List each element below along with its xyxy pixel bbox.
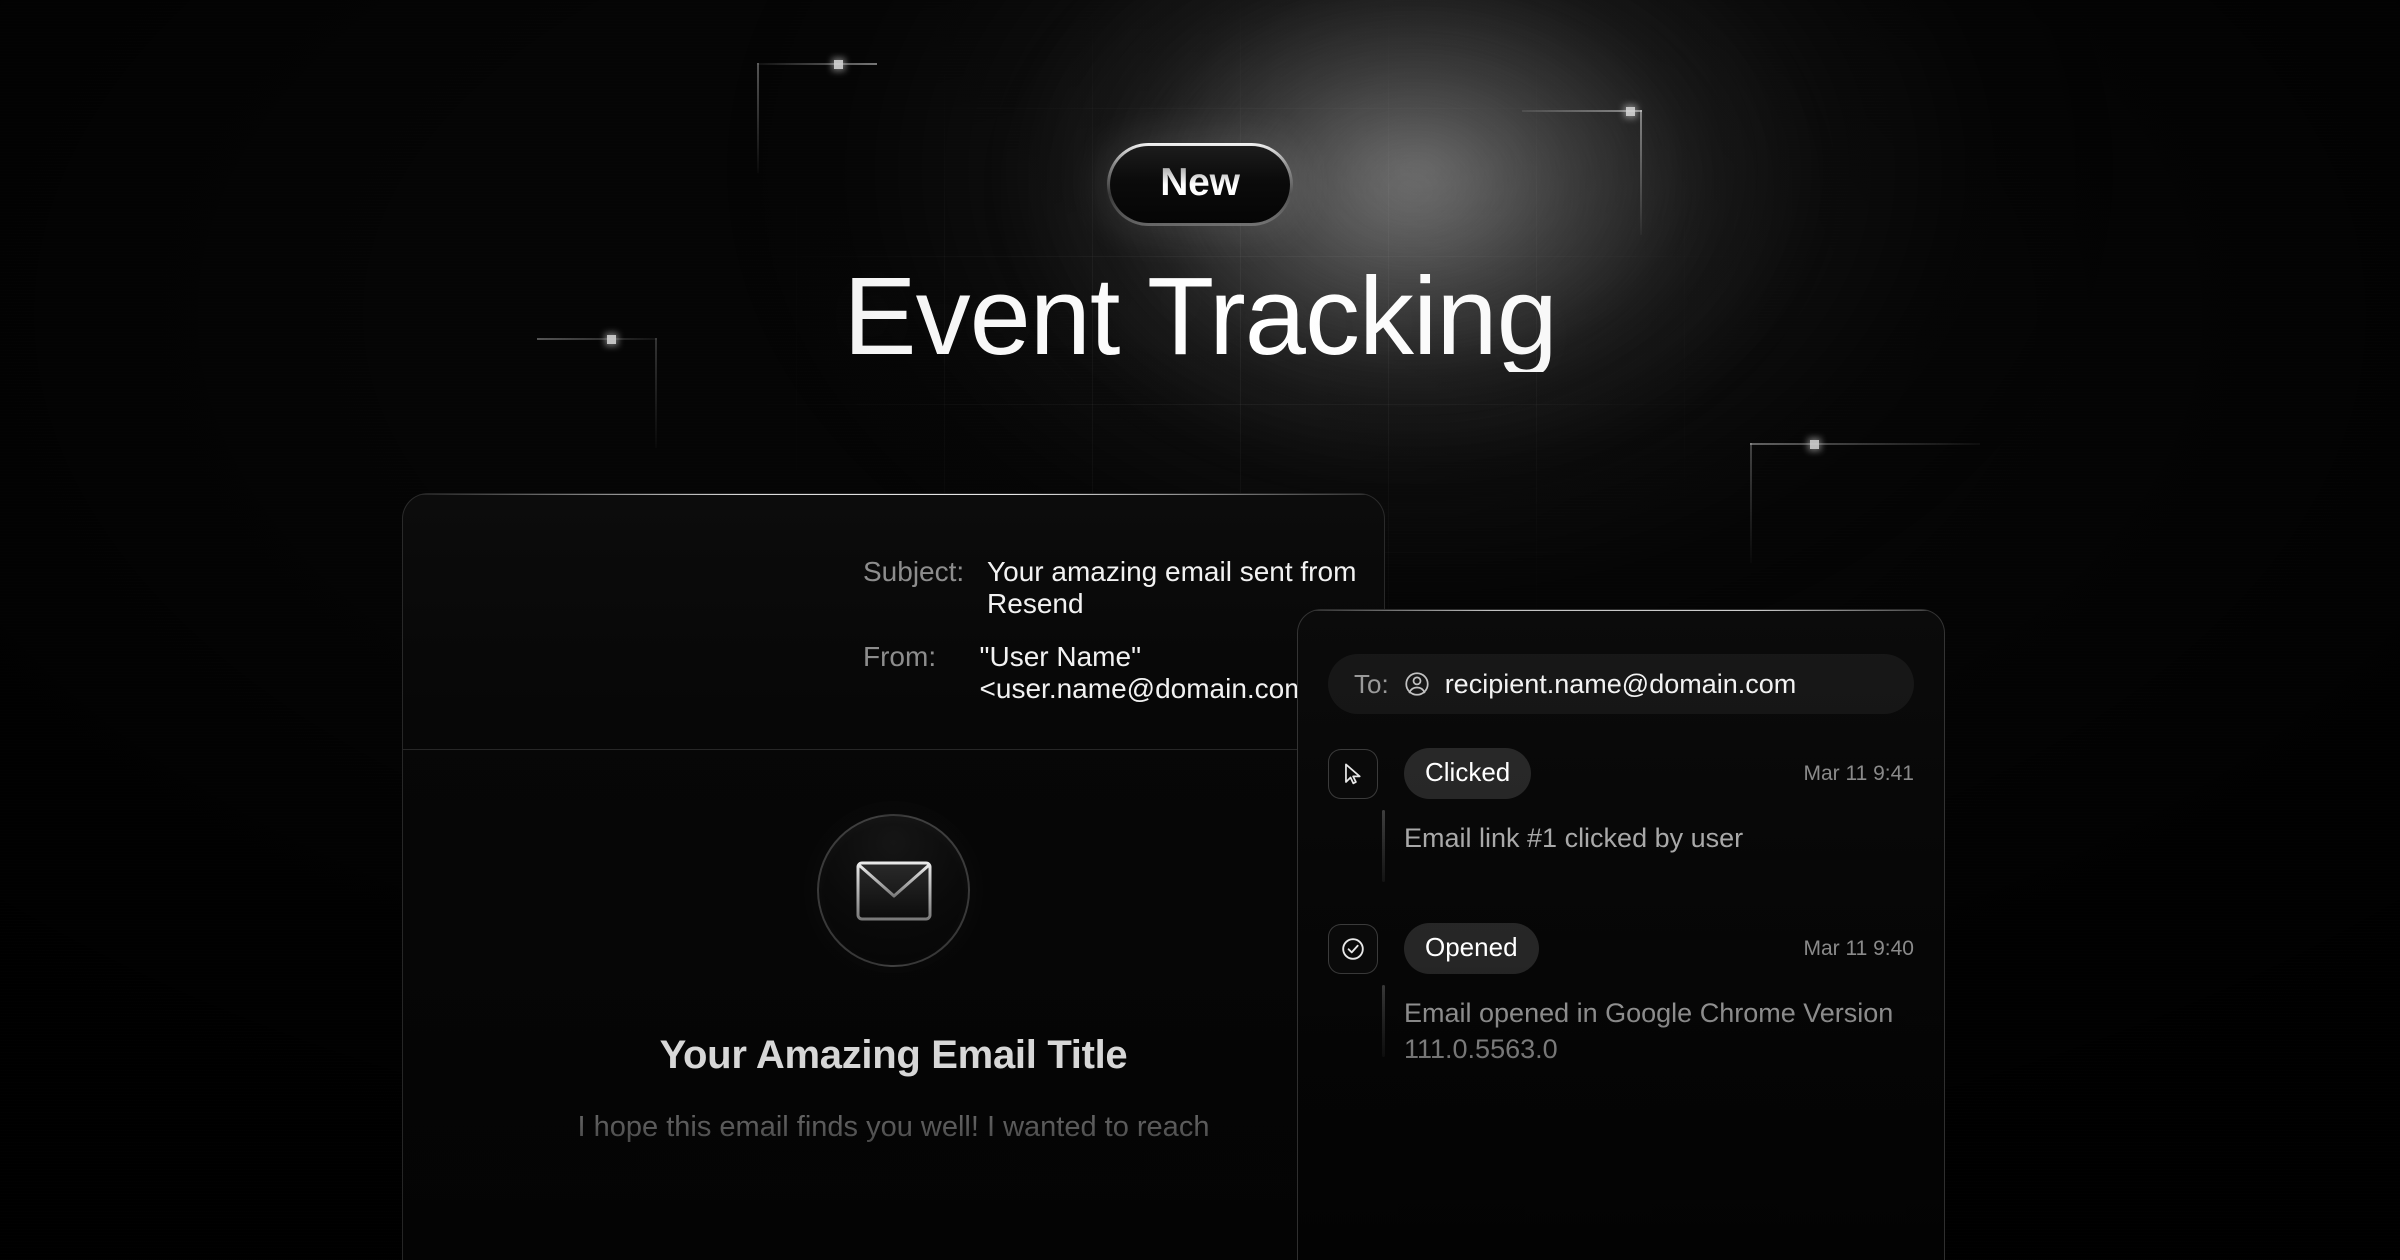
cursor-pointer-icon <box>1328 749 1378 799</box>
email-meta-from-label: From: <box>863 641 980 673</box>
timeline-connector <box>1382 985 1385 1057</box>
event-detail-text: Email link #1 clicked by user <box>1404 799 1914 875</box>
new-badge[interactable]: New <box>1107 143 1293 226</box>
event-header: Clicked Mar 11 9:41 <box>1328 748 1914 799</box>
hero-section: New Event Tracking <box>0 0 2400 372</box>
email-body: Your Amazing Email Title I hope this ema… <box>403 750 1384 1144</box>
event-timeline: Clicked Mar 11 9:41 Email link #1 clicke… <box>1298 748 1944 1067</box>
page-root: New Event Tracking Subject: Your amazing… <box>0 0 2400 1260</box>
email-meta-from: From: "User Name" <user.name@domain.com> <box>402 641 1384 705</box>
event-timestamp: Mar 11 9:40 <box>1803 937 1914 961</box>
timeline-connector <box>1382 810 1385 882</box>
email-title: Your Amazing Email Title <box>403 1033 1384 1078</box>
event-status-badge: Opened <box>1404 923 1539 974</box>
envelope-icon <box>817 814 970 967</box>
email-meta-subject-label: Subject: <box>863 556 987 588</box>
event-status-badge: Clicked <box>1404 748 1531 799</box>
email-preview-text: I hope this email finds you well! I want… <box>403 1111 1384 1144</box>
timeline-item[interactable]: Opened Mar 11 9:40 Email opened in Googl… <box>1328 923 1914 1067</box>
check-circle-icon <box>1328 924 1378 974</box>
email-meta-subject: Subject: Your amazing email sent from Re… <box>402 556 1384 620</box>
email-preview-card: Subject: Your amazing email sent from Re… <box>402 493 1385 1260</box>
event-detail-text: Email opened in Google Chrome Version 11… <box>1404 974 1914 1067</box>
timeline-item[interactable]: Clicked Mar 11 9:41 Email link #1 clicke… <box>1328 748 1914 875</box>
email-header: Subject: Your amazing email sent from Re… <box>403 494 1384 750</box>
event-timestamp: Mar 11 9:41 <box>1803 762 1914 786</box>
event-header: Opened Mar 11 9:40 <box>1328 923 1914 974</box>
person-circle-icon <box>1403 670 1431 698</box>
recipient-field[interactable]: To: recipient.name@domain.com <box>1328 654 1914 714</box>
new-badge-inner: New <box>1110 146 1290 223</box>
new-badge-label: New <box>1160 161 1240 204</box>
page-title: Event Tracking <box>0 262 2400 372</box>
recipient-label: To: <box>1354 669 1389 700</box>
recipient-email: recipient.name@domain.com <box>1445 669 1797 700</box>
event-tracking-panel: To: recipient.name@domain.com <box>1297 609 1945 1260</box>
